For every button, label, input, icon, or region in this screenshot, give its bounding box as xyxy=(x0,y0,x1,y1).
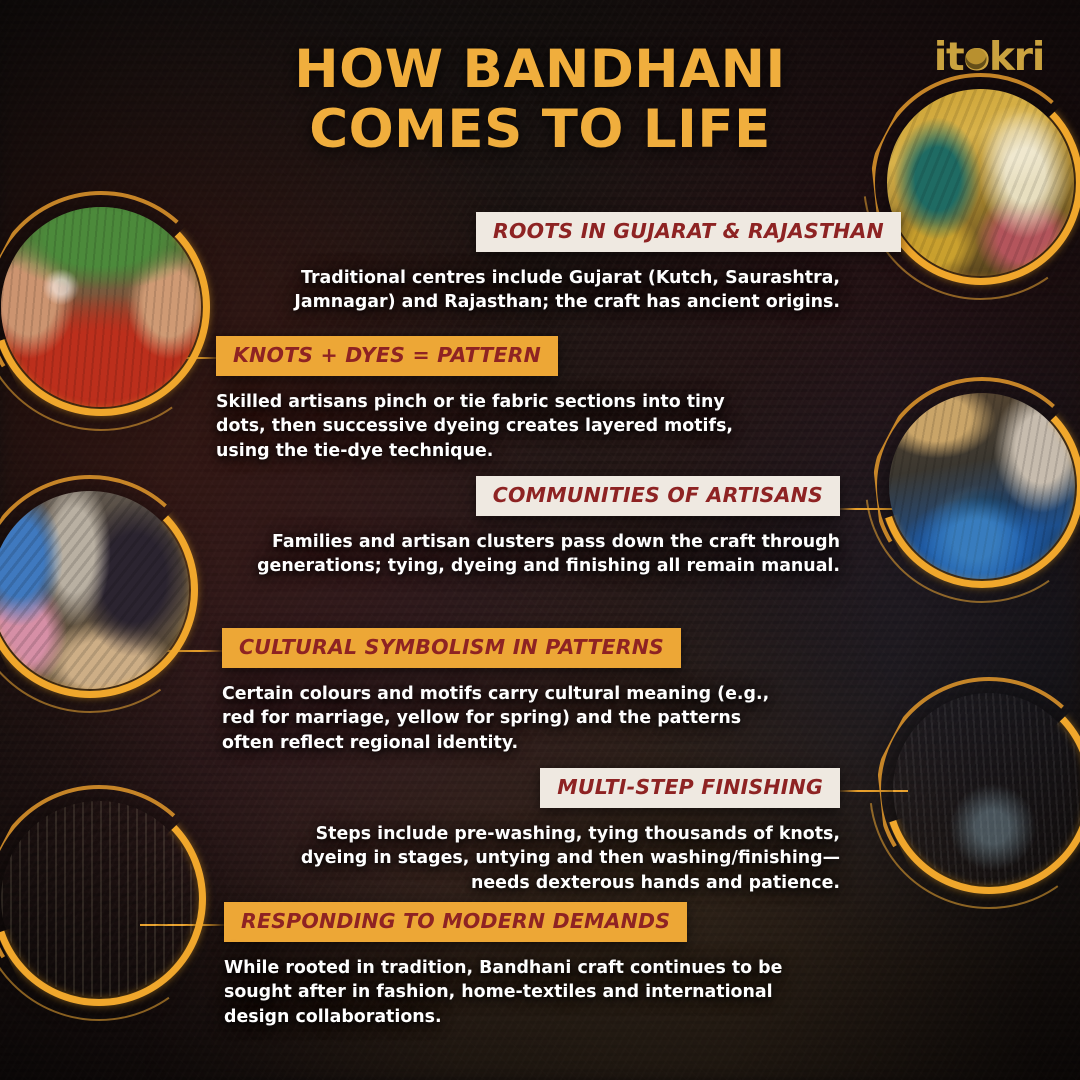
photo-women-seated-tying xyxy=(0,482,198,698)
section-body-cultural-symbolism: Certain colours and motifs carry cultura… xyxy=(222,682,782,756)
photo-disc xyxy=(889,393,1075,579)
photo-disc xyxy=(1,801,197,997)
section-body-multi-step-finishing: Steps include pre-washing, tying thousan… xyxy=(298,822,840,896)
photo-blue-dye-vat xyxy=(884,684,1080,894)
brand-logo-text: itokri xyxy=(934,35,1044,80)
section-body-modern-demands: While rooted in tradition, Bandhani craf… xyxy=(224,956,790,1030)
photo-hands-tying-red-cloth xyxy=(0,198,210,416)
photo-disc xyxy=(893,693,1080,885)
section-knots-dyes: KNOTS + DYES = PATTERN Skilled artisans … xyxy=(216,336,764,464)
photo-disc xyxy=(0,491,189,689)
page-title: HOW BANDHANI COMES TO LIFE xyxy=(0,40,1080,161)
photo-disc xyxy=(1,207,201,407)
section-banner-communities: COMMUNITIES OF ARTISANS xyxy=(476,476,840,516)
section-body-communities: Families and artisan clusters pass down … xyxy=(232,530,840,579)
section-banner-multi-step-finishing: MULTI-STEP FINISHING xyxy=(540,768,840,808)
section-banner-modern-demands: RESPONDING TO MODERN DEMANDS xyxy=(224,902,687,942)
section-communities: COMMUNITIES OF ARTISANS Families and art… xyxy=(232,476,840,579)
section-body-roots: Traditional centres include Gujarat (Kut… xyxy=(258,266,840,315)
infographic-poster: itokri HOW BANDHANI COMES TO LIFE xyxy=(0,0,1080,1080)
section-multi-step-finishing: MULTI-STEP FINISHING Steps include pre-w… xyxy=(298,768,840,896)
section-cultural-symbolism: CULTURAL SYMBOLISM IN PATTERNS Certain c… xyxy=(222,628,782,756)
section-banner-roots: ROOTS IN GUJARAT & RAJASTHAN xyxy=(476,212,901,252)
section-modern-demands: RESPONDING TO MODERN DEMANDS While roote… xyxy=(224,902,790,1030)
section-banner-cultural-symbolism: CULTURAL SYMBOLISM IN PATTERNS xyxy=(222,628,681,668)
page-title-line-2: COMES TO LIFE xyxy=(0,100,1080,160)
section-banner-knots-dyes: KNOTS + DYES = PATTERN xyxy=(216,336,558,376)
photo-dyer-at-indigo-tub xyxy=(880,384,1080,588)
page-title-line-1: HOW BANDHANI xyxy=(0,40,1080,100)
section-roots: ROOTS IN GUJARAT & RAJASTHAN Traditional… xyxy=(258,212,840,315)
photo-dyer-lifting-yellow xyxy=(0,792,206,1006)
brand-logo: itokri xyxy=(934,38,1044,77)
section-body-knots-dyes: Skilled artisans pinch or tie fabric sec… xyxy=(216,390,764,464)
